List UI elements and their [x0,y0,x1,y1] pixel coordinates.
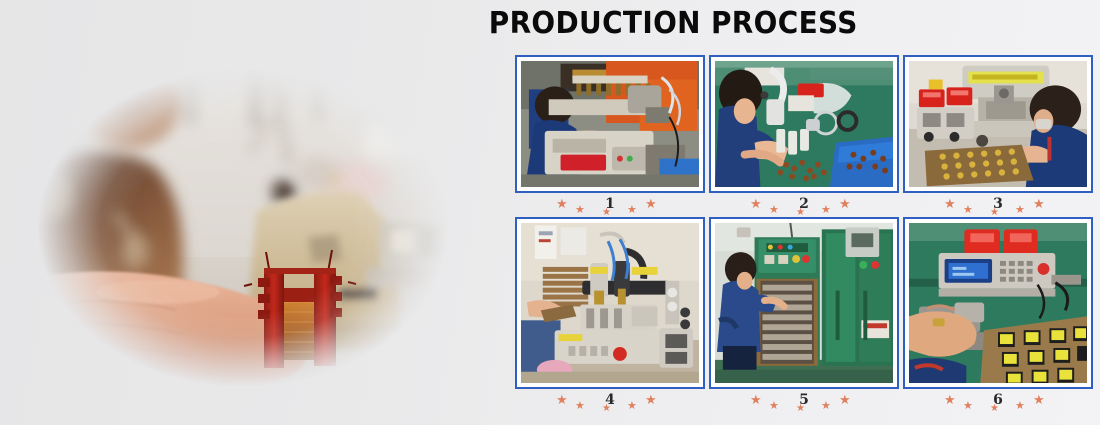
step-number: 6 [938,392,1058,408]
step-number: 4 [550,392,670,408]
step-caption-2: ★ ★ ★ ★ ★ 2 [744,197,864,215]
process-step-3[interactable]: ★ ★ ★ ★ ★ 3 [903,55,1093,215]
process-step-5[interactable]: ★ ★ ★ ★ ★ 5 [709,217,899,417]
step-number: 1 [550,196,670,212]
process-photo-4 [521,223,699,383]
photo-frame-5[interactable] [709,217,899,389]
process-photo-1 [521,61,699,187]
hero-photo [8,42,478,414]
step-number: 3 [938,196,1058,212]
photo-frame-2[interactable] [709,55,899,193]
process-step-6[interactable]: ★ ★ ★ ★ ★ 6 [903,217,1093,417]
step-caption-1: ★ ★ ★ ★ ★ 1 [550,197,670,215]
process-photo-5 [715,223,893,383]
step-caption-3: ★ ★ ★ ★ ★ 3 [938,197,1058,215]
process-photo-3 [909,61,1087,187]
step-caption-5: ★ ★ ★ ★ ★ 5 [744,393,864,415]
photo-frame-3[interactable] [903,55,1093,193]
step-caption-4: ★ ★ ★ ★ ★ 4 [550,393,670,415]
page-title: PRODUCTION PROCESS [39,6,1062,41]
step-number: 5 [744,392,864,408]
photo-frame-6[interactable] [903,217,1093,389]
production-process-grid: ★ ★ ★ ★ ★ 1 [515,55,1093,417]
photo-frame-1[interactable] [515,55,705,193]
photo-frame-4[interactable] [515,217,705,389]
process-photo-6 [909,223,1087,383]
step-caption-6: ★ ★ ★ ★ ★ 6 [938,393,1058,415]
process-step-2[interactable]: ★ ★ ★ ★ ★ 2 [709,55,899,215]
step-number: 2 [744,196,864,212]
hero-image-container [8,42,478,414]
process-photo-2 [715,61,893,187]
process-step-1[interactable]: ★ ★ ★ ★ ★ 1 [515,55,705,215]
process-step-4[interactable]: ★ ★ ★ ★ ★ 4 [515,217,705,417]
